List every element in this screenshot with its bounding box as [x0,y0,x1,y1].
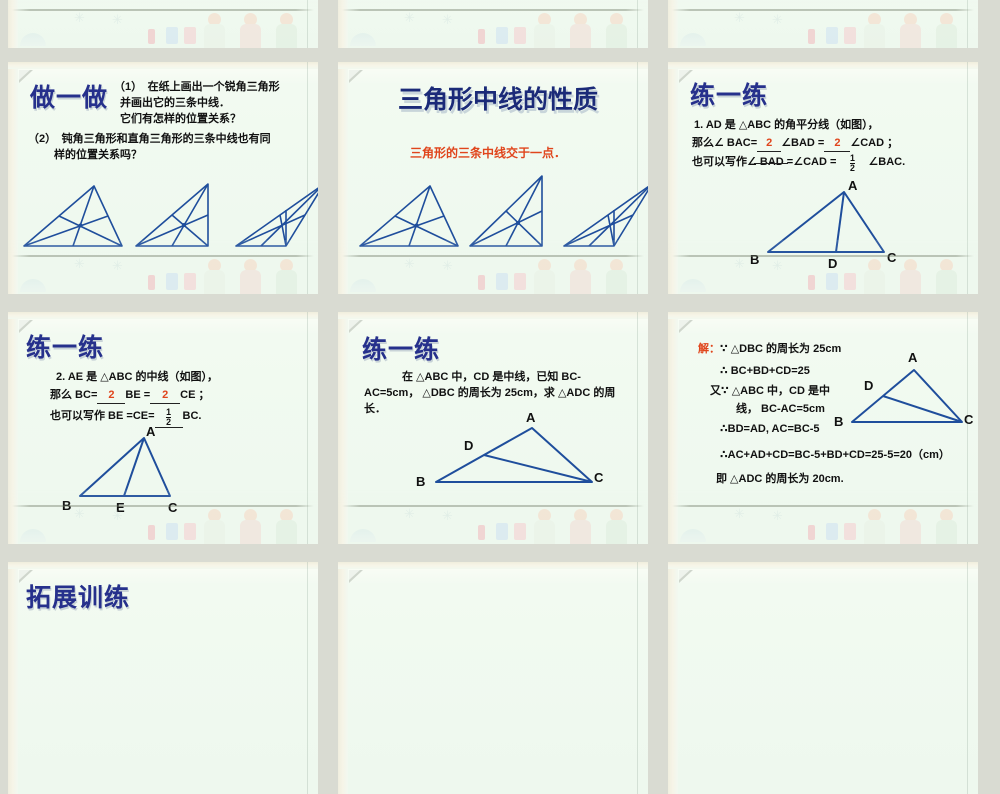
slide-1-line-2: 并画出它的三条中线． [120,96,230,111]
slide-6-line-1: ∵ △DBC 的周长为 25cm [720,343,841,355]
slide-thumbnail-9[interactable] [668,562,978,794]
folded-corner-icon [349,320,363,333]
slide-footer-illustration: ✳ ✳ [338,0,648,48]
slide-3-line2-prefix: 那么∠ BAC= [692,137,757,149]
svg-text:B: B [834,414,843,429]
slide-6-line-3: 又∵ △ABC 中，CD 是中 [710,384,830,399]
slide-5-line-3: 长． [364,402,386,417]
slide-1-heading: 做一做 [30,78,108,114]
slide-thumbnail-top-partial-2[interactable]: ✳ ✳ [338,0,648,48]
slide-3-line-3: 也可以写作∠ BAD =∠CAD =12∠BAC. [692,154,905,173]
svg-text:A: A [526,410,536,425]
slide-1-line-3: 它们有怎样的位置关系？ [120,112,241,127]
slide-thumbnail-top-partial-3[interactable]: ✳ ✳ [668,0,978,48]
slide-top-margin [8,312,318,319]
slide-top-margin [338,562,648,569]
slide-3-heading: 练一练 [690,76,768,112]
slide-1-line-5: 样的位置关系吗？ [54,148,142,163]
svg-text:C: C [594,470,604,485]
folded-corner-icon [679,570,693,583]
slide-5-line-2: AC=5cm， △DBC 的周长为 25cm，求 △ADC 的周 [364,386,615,401]
slide-3-fraction-blank[interactable]: 12 [836,154,868,173]
slide-thumbnail-4[interactable]: 练一练 2. AE 是 △ABC 的中线（如图）， 那么 BC=2BE =2CE… [8,312,318,544]
slide-5-heading: 练一练 [362,330,440,366]
slide-6-line-2: ∴ BC+BD+CD=25 [720,364,810,379]
slide-6-line-7: 即 △ADC 的周长为 20cm. [716,472,844,487]
slide-3-line2-mid: ∠BAD = [781,137,824,149]
svg-text:D: D [464,438,473,453]
slide-thumbnail-3[interactable]: 练一练 1. AD 是 △ABC 的角平分线（如图）， 那么∠ BAC=2∠BA… [668,62,978,294]
slide-thumbnail-grid: ✳ ✳ ✳ ✳ [0,0,1000,600]
slide-footer-illustration: ✳ ✳ [8,240,318,294]
slide-footer-illustration: ✳ ✳ [338,490,648,544]
slide-4-line2-prefix: 那么 BC= [50,389,97,401]
slide-1-line-4: （2） 钝角三角形和直角三角形的三条中线也有同 [28,132,271,147]
slide-1-line-1: （1） 在纸上画出一个锐角三角形 [114,80,280,95]
slide-6-line-5: ∴BD=AD, AC=BC-5 [720,422,820,437]
slide-4-line-1: 2. AE 是 △ABC 的中线（如图）， [56,370,218,385]
slide-3-line3-suffix: ∠BAC. [868,156,905,168]
figure-triangle-abc-with-median-cd: A D B C [828,342,978,432]
svg-text:A: A [908,350,918,365]
slide-right-rule [637,562,638,794]
slide-3-blank-1[interactable]: 2 [757,136,781,152]
slide-5-line-1: 在 △ABC 中，CD 是中线，已知 BC- [402,370,581,385]
slide-thumbnail-5[interactable]: 练一练 在 △ABC 中，CD 是中线，已知 BC- AC=5cm， △DBC … [338,312,648,544]
fraction-numerator: 1 [166,408,171,417]
slide-thumbnail-7[interactable]: 拓展训练 [8,562,318,794]
svg-text:A: A [146,424,156,439]
figure-triangle-abc-with-median-cd: A D B C [414,408,624,494]
slide-3-line2-suffix: ∠CAD ； [850,137,898,149]
slide-footer-illustration: ✳ ✳ [8,490,318,544]
svg-text:B: B [416,474,425,489]
slide-top-margin [668,312,978,319]
folded-corner-icon [349,70,363,83]
slide-top-margin [8,562,318,569]
slide-4-blank-2[interactable]: 2 [150,388,180,404]
slide-footer-illustration: ✳ ✳ [8,0,318,48]
slide-thumbnail-8[interactable] [338,562,648,794]
slide-thumbnail-2[interactable]: 三角形中线的性质 三角形的三条中线交于一点． [338,62,648,294]
slide-right-rule [307,562,308,794]
slide-4-line3-suffix: BC. [183,410,202,422]
one-half-fraction: 12 [850,154,855,173]
slide-top-margin [668,562,978,569]
slide-3-blank-2[interactable]: 2 [824,136,850,152]
slide-right-rule [967,562,968,794]
svg-text:A: A [848,180,858,193]
solution-label: 解： [698,343,720,355]
svg-text:D: D [864,378,873,393]
slide-canvas [338,562,648,794]
slide-7-heading: 拓展训练 [26,578,130,614]
slide-2-title: 三角形中线的性质 [398,80,598,116]
slide-6-line-6: ∴AC+AD+CD=BC-5+BD+CD=25-5=20（cm） [720,448,950,463]
fraction-denominator: 2 [850,163,855,173]
slide-left-margin [8,562,18,794]
folded-corner-icon [349,570,363,583]
slide-4-line2-suffix: CE ； [180,389,209,401]
slide-thumbnail-6[interactable]: 解：∵ △DBC 的周长为 25cm ∴ BC+BD+CD=25 又∵ △ABC… [668,312,978,544]
slide-top-margin [338,312,648,319]
slide-4-heading: 练一练 [26,328,104,364]
slide-thumbnail-top-partial[interactable]: ✳ ✳ [8,0,318,48]
slide-footer-illustration: ✳ ✳ [668,240,978,294]
fraction-numerator: 1 [850,154,855,163]
slide-3-line-2: 那么∠ BAC=2∠BAD =2∠CAD ； [692,136,898,152]
slide-6-line-4: 线， BC-AC=5cm [736,402,825,417]
slide-2-statement: 三角形的三条中线交于一点． [410,144,566,161]
slide-4-line-2: 那么 BC=2BE =2CE ； [50,388,209,404]
slide-4-blank-1[interactable]: 2 [97,388,125,404]
slide-canvas [668,562,978,794]
folded-corner-icon [679,320,693,333]
slide-left-margin [338,562,348,794]
slide-footer-illustration: ✳ ✳ [668,490,978,544]
slide-3-line3-prefix: 也可以写作∠ BAD =∠CAD = [692,156,836,168]
slide-left-margin [668,562,678,794]
svg-text:C: C [964,412,974,427]
slide-top-margin [668,62,978,69]
slide-4-line2-mid: BE = [125,389,150,401]
slide-footer-illustration: ✳ ✳ [668,0,978,48]
slide-3-line-1: 1. AD 是 △ABC 的角平分线（如图）， [694,118,879,133]
slide-top-margin [8,62,318,69]
slide-top-margin [338,62,648,69]
slide-footer-illustration: ✳ ✳ [338,240,648,294]
slide-3-answer-rule [754,163,788,164]
slide-thumbnail-1[interactable]: 做一做 （1） 在纸上画出一个锐角三角形 并画出它的三条中线． 它们有怎样的位置… [8,62,318,294]
slide-6-solution-line-1: 解：∵ △DBC 的周长为 25cm [698,342,841,357]
slide-4-line3-prefix: 也可以写作 BE =CE= [50,410,155,422]
